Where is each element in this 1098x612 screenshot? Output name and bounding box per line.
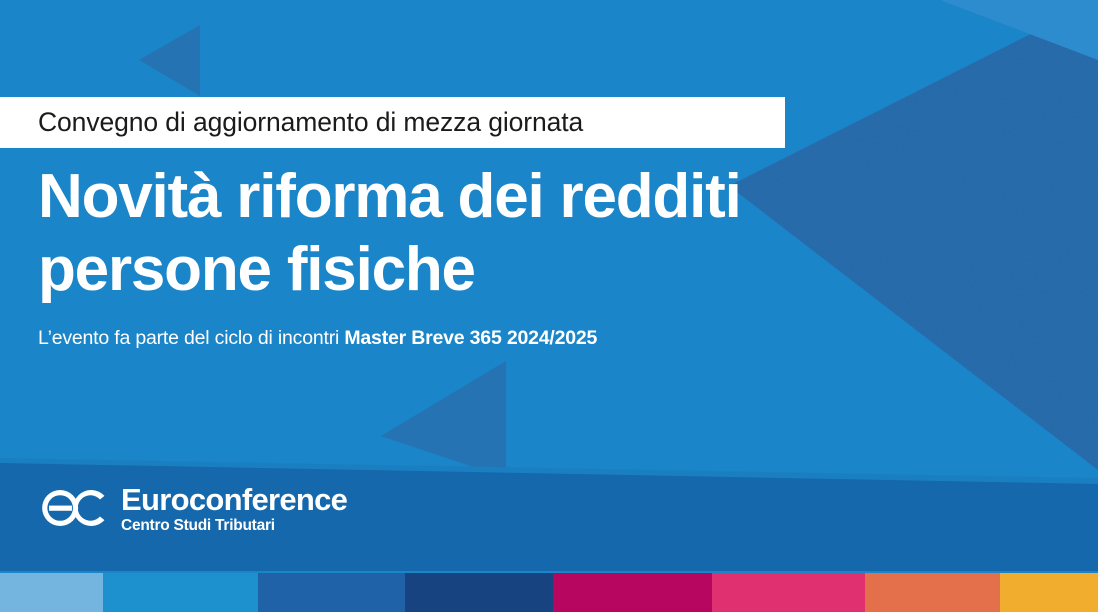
stripe-magenta [553, 573, 712, 612]
stripe-yellow [1000, 573, 1098, 612]
event-banner: Convegno di aggiornamento di mezza giorn… [0, 0, 1098, 612]
subtitle-lead: L’evento fa parte del ciclo di incontri [38, 327, 344, 349]
stripe-navy [405, 573, 553, 612]
kicker-text: Convegno di aggiornamento di mezza giorn… [38, 109, 583, 136]
color-stripe-bar [0, 573, 1098, 612]
logo: Euroconference Centro Studi Tributari [38, 484, 347, 534]
stripe-light-blue [0, 573, 103, 612]
logo-name: Euroconference [121, 484, 347, 515]
title-line-2: persone fisiche [38, 233, 938, 306]
kicker-plate: Convegno di aggiornamento di mezza giorn… [0, 97, 785, 148]
logo-tagline: Centro Studi Tributari [121, 518, 347, 534]
title-line-1: Novità riforma dei redditi [38, 160, 938, 233]
stripe-medium-blue [258, 573, 405, 612]
subtitle: L’evento fa parte del ciclo di incontri … [38, 329, 597, 349]
logo-wordmark: Euroconference Centro Studi Tributari [121, 484, 347, 534]
stripe-orange [865, 573, 1000, 612]
stripe-blue [103, 573, 258, 612]
page-title: Novità riforma dei redditi persone fisic… [38, 160, 938, 306]
stripe-pink [712, 573, 865, 612]
subtitle-highlight: Master Breve 365 2024/2025 [344, 327, 597, 349]
ec-monogram-icon [38, 485, 110, 531]
